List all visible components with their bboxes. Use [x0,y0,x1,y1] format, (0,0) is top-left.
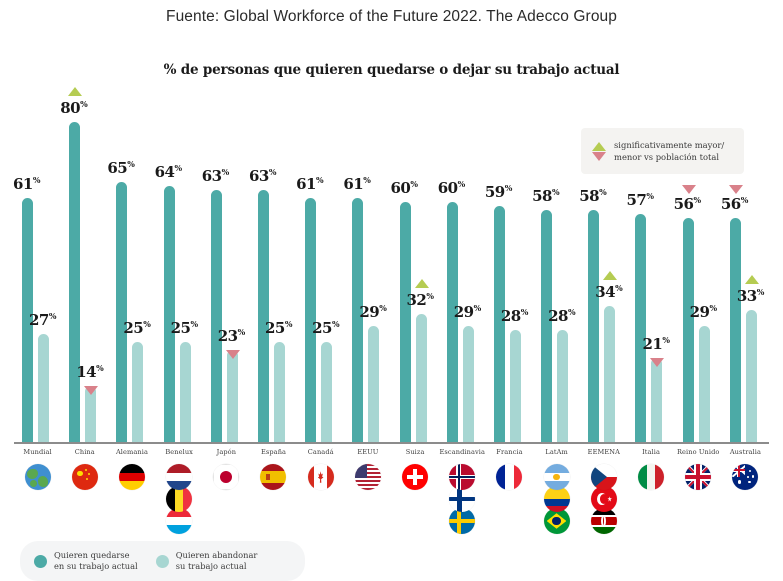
bar-group: 65%25% [108,90,155,442]
bar-leave[interactable] [557,330,568,442]
legend-entry[interactable]: Quieren abandonarsu trabajo actual [156,550,258,572]
bar-leave[interactable] [132,342,143,442]
bar-leave[interactable] [463,326,474,442]
flag-stack [156,464,203,534]
bar-stay[interactable] [400,202,411,442]
flag-stack [392,464,439,490]
bar-leave[interactable] [604,306,615,442]
flag-norway-icon [449,464,475,490]
significance-down-icon [729,185,743,194]
chart-card: % de personas que quieren quedarse o dej… [0,44,783,549]
bar-value-stay: 59% [485,183,512,201]
bar-group: 61%25% [297,90,344,442]
bar-value-stay: 61% [343,175,370,193]
bar-value-leave: 33% [737,287,764,305]
flag-japan-icon [213,464,239,490]
flag-australia-icon [732,464,758,490]
bar-value-leave: 32% [407,291,434,309]
bar-stay[interactable] [588,210,599,442]
legend-entry[interactable]: Quieren quedarseen su trabajo actual [34,550,138,572]
significance-down-icon [682,185,696,194]
bar-leave[interactable] [651,358,662,442]
bar-value-leave: 21% [642,335,669,353]
bar-value-leave: 25% [312,319,339,337]
bar-stay[interactable] [683,218,694,442]
bar-group: 59%28% [486,90,533,442]
bar-leave[interactable] [274,342,285,442]
flag-italy-icon [638,464,664,490]
bar-value-stay: 63% [249,167,276,185]
bar-stay[interactable] [541,210,552,442]
bar-value-leave: 28% [501,307,528,325]
bar-group: 80%14% [61,90,108,442]
significance-up-icon [745,275,759,284]
bar-stay[interactable] [258,190,269,442]
category-label: Australia [714,448,777,456]
flag-globe-icon [25,464,51,490]
bar-value-leave: 23% [218,327,245,345]
legend-label-line2: su trabajo actual [176,561,258,572]
significance-up-icon [603,271,617,280]
flag-czech-icon [591,464,617,490]
bar-leave[interactable] [227,350,238,442]
series-legend: Quieren quedarseen su trabajo actualQuie… [20,541,305,581]
flag-stack [297,464,344,490]
legend-label: Quieren abandonarsu trabajo actual [176,550,258,572]
bar-value-leave: 34% [595,283,622,301]
legend-label-line1: Quieren abandonar [176,550,258,561]
bar-group: 56%29% [675,90,722,442]
bar-leave[interactable] [510,330,521,442]
flag-usa-icon [355,464,381,490]
bar-leave[interactable] [699,326,710,442]
significance-up-icon [415,279,429,288]
bar-value-leave: 27% [29,311,56,329]
bar-value-stay: 61% [296,175,323,193]
bar-value-leave: 29% [359,303,386,321]
bar-group: 58%34% [580,90,627,442]
bar-group: 64%25% [156,90,203,442]
x-axis-line [14,442,769,444]
bar-leave[interactable] [416,314,427,442]
bar-leave[interactable] [321,342,332,442]
significance-down-icon [650,358,664,367]
bar-value-stay: 80% [60,99,87,117]
bar-group: 60%29% [439,90,486,442]
bar-value-stay: 61% [13,175,40,193]
bar-group: 57%21% [627,90,674,442]
bar-group: 60%32% [392,90,439,442]
bar-stay[interactable] [211,190,222,442]
bar-value-stay: 58% [579,187,606,205]
bar-value-stay: 63% [202,167,229,185]
bar-stay[interactable] [635,214,646,442]
flag-stack [108,464,155,490]
bar-value-leave: 29% [690,303,717,321]
bar-value-leave: 25% [171,319,198,337]
bar-value-leave: 25% [265,319,292,337]
bar-group: 63%25% [250,90,297,442]
bar-value-leave: 25% [123,319,150,337]
flag-uk-icon [685,464,711,490]
bar-value-stay: 60% [438,179,465,197]
bar-stay[interactable] [730,218,741,442]
bar-leave[interactable] [38,334,49,442]
chart-title: % de personas que quieren quedarse o dej… [0,62,783,78]
flag-stack [627,464,674,490]
legend-label: Quieren quedarseen su trabajo actual [54,550,138,572]
flag-stack [486,464,533,490]
flag-stack [675,464,722,490]
bar-value-leave: 28% [548,307,575,325]
plot-area: 61%27%80%14%65%25%64%25%63%23%63%25%61%2… [14,90,769,444]
significance-up-icon [68,87,82,96]
legend-label-line2: en su trabajo actual [54,561,138,572]
flag-stack [533,464,580,534]
legend-dot-icon [156,555,169,568]
bar-leave[interactable] [180,342,191,442]
bar-group: 63%23% [203,90,250,442]
bar-group: 61%27% [14,90,61,442]
flag-argentina-icon [544,464,570,490]
bar-value-stay: 58% [532,187,559,205]
legend-label-line1: Quieren quedarse [54,550,138,561]
bar-value-stay: 56% [674,195,701,213]
bar-value-stay: 60% [391,179,418,197]
flag-stack [439,464,486,534]
flag-china-icon [72,464,98,490]
bar-stay[interactable] [116,182,127,442]
significance-down-icon [84,386,98,395]
flag-germany-icon [119,464,145,490]
bar-value-stay: 65% [107,159,134,177]
bar-stay[interactable] [447,202,458,442]
flag-stack [14,464,61,490]
bar-stay[interactable] [164,186,175,442]
flag-france-icon [496,464,522,490]
bar-stay[interactable] [69,122,80,442]
bar-value-stay: 56% [721,195,748,213]
flag-stack [580,464,627,534]
bar-leave[interactable] [368,326,379,442]
flag-stack [250,464,297,490]
flag-stack [344,464,391,490]
flag-spain-icon [260,464,286,490]
bar-group: 58%28% [533,90,580,442]
category-labels-row: MundialChinaAlemaniaBeneluxJapónEspañaCa… [14,448,769,462]
flags-row [14,464,769,536]
bar-group: 56%33% [722,90,769,442]
bar-group: 61%29% [344,90,391,442]
legend-dot-icon [34,555,47,568]
flag-stack [61,464,108,490]
bar-value-stay: 64% [155,163,182,181]
flag-stack [203,464,250,490]
flag-switzerland-icon [402,464,428,490]
bar-value-stay: 57% [626,191,653,209]
bar-value-leave: 29% [454,303,481,321]
source-caption: Fuente: Global Workforce of the Future 2… [0,8,783,26]
flag-canada-icon [308,464,334,490]
flag-stack [722,464,769,490]
bar-value-leave: 14% [76,363,103,381]
significance-down-icon [226,350,240,359]
bar-leave[interactable] [746,310,757,442]
flag-netherlands-icon [166,464,192,490]
